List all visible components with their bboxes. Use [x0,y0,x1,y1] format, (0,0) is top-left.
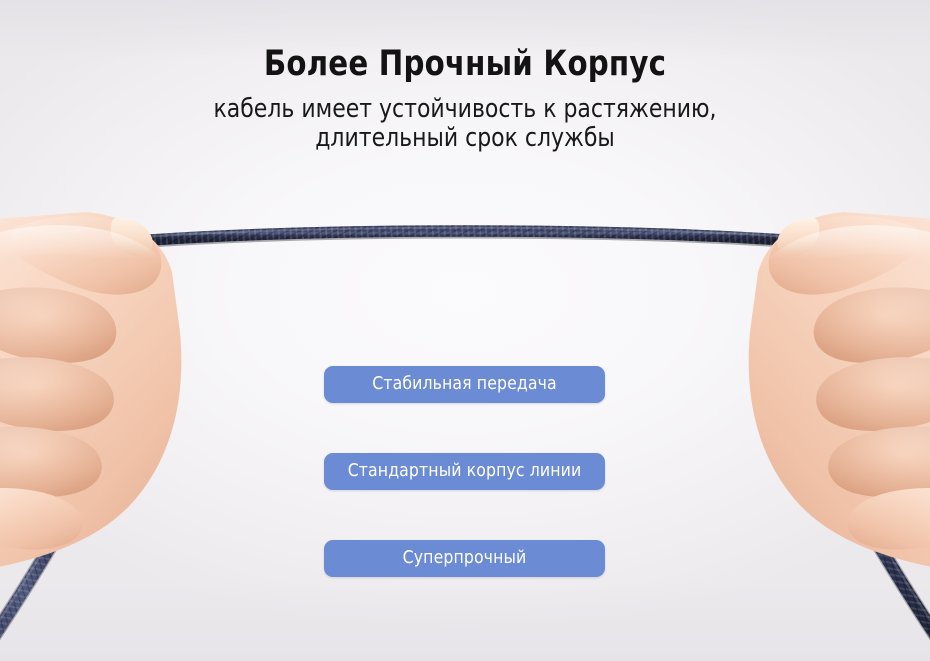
promo-banner: Более Прочный Корпус кабель имеет устойч… [0,0,930,661]
page-title: Более Прочный Корпус [33,42,898,86]
right-hand-gripping-cable [664,186,930,606]
feature-badge-list: Стабильная передача Стандартный корпус л… [324,366,605,577]
headings-block: Более Прочный Корпус кабель имеет устойч… [0,42,930,153]
hand-illustration [0,186,266,606]
hand-illustration [664,186,930,606]
page-subtitle: кабель имеет устойчивость к растяжению, … [28,95,902,153]
left-hand-gripping-cable [0,186,266,606]
subtitle-line-1: кабель имеет устойчивость к растяжению, [28,95,902,124]
feature-badge-stable-transmission[interactable]: Стабильная передача [324,366,605,403]
subtitle-line-2: длительный срок службы [28,124,902,153]
feature-badge-standard-line-body[interactable]: Стандартный корпус линии [324,453,605,490]
feature-badge-super-durable[interactable]: Суперпрочный [324,540,605,577]
